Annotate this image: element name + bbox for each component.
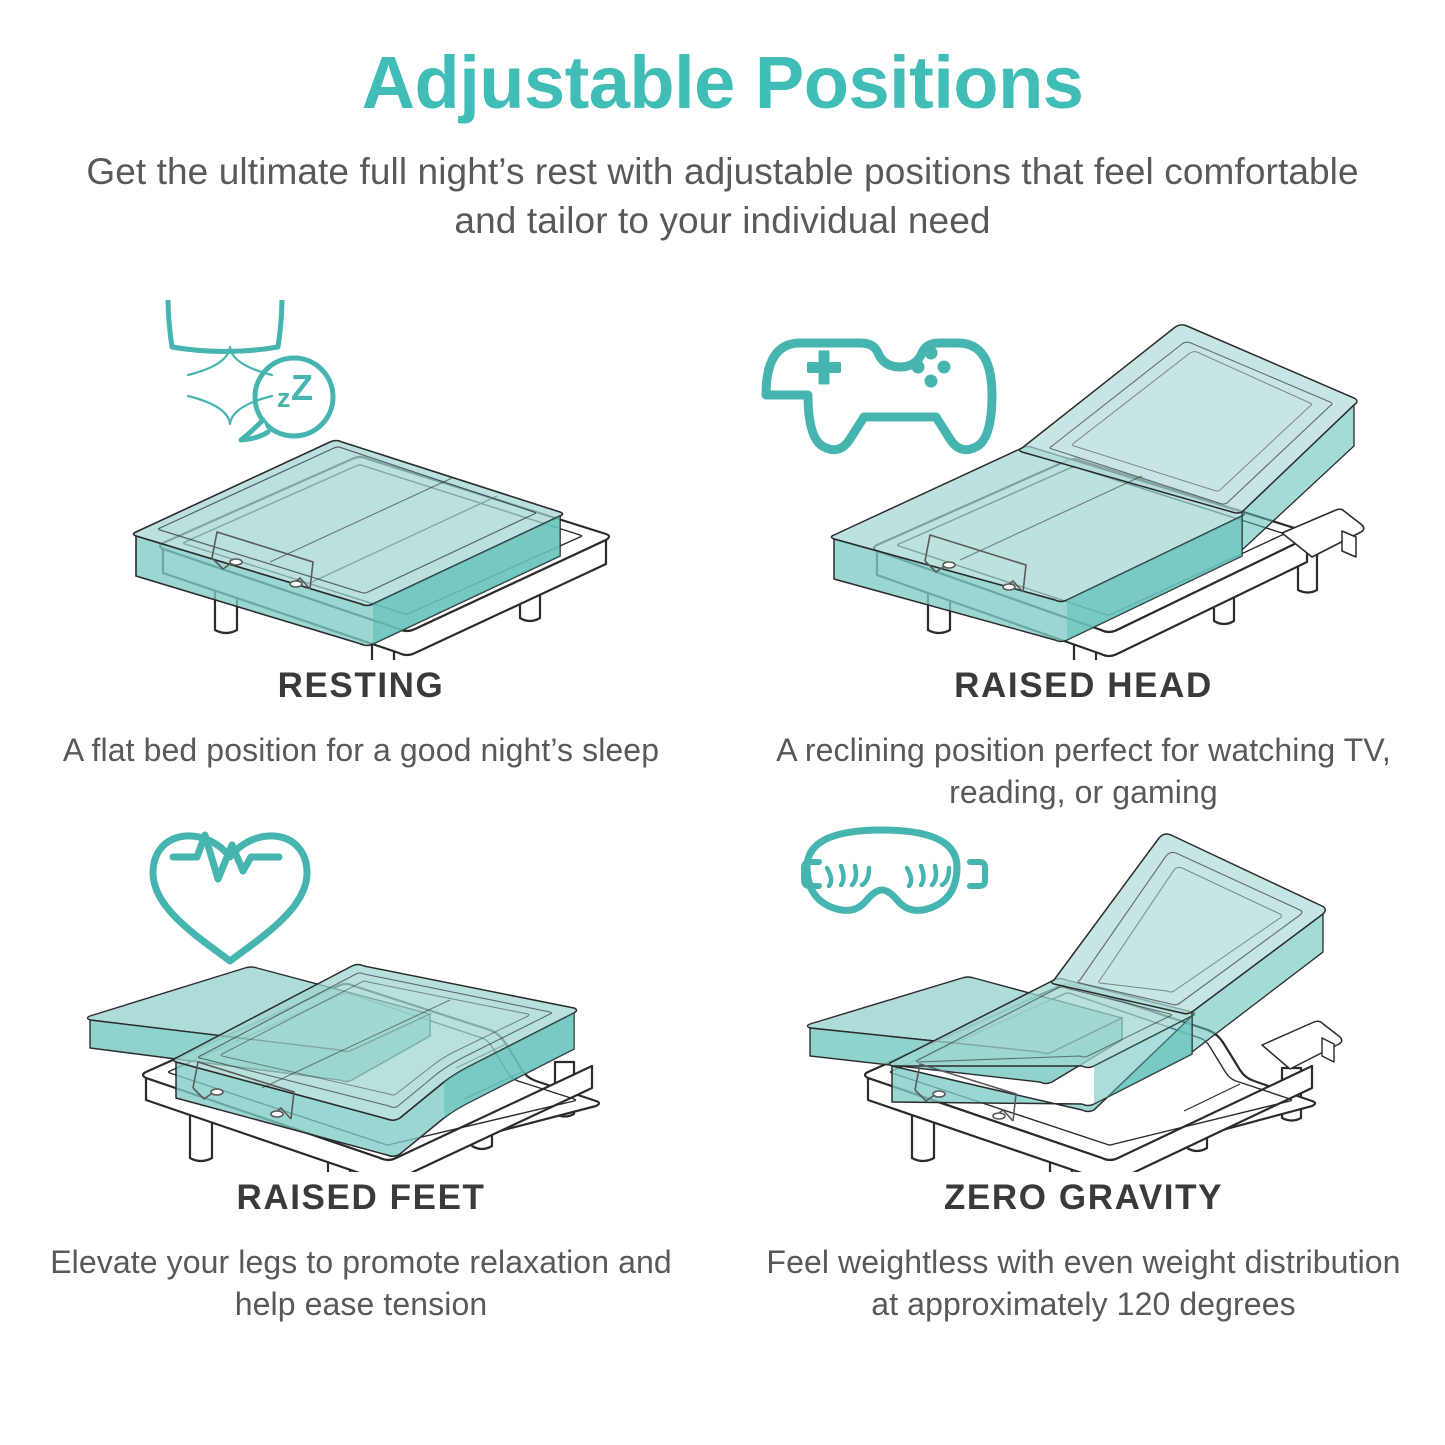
- panel-desc-raised-feet: Elevate your legs to promote relaxation …: [0, 1241, 722, 1325]
- page-title: Adjustable Positions: [0, 46, 1445, 120]
- illustration-zero-gravity: [722, 800, 1445, 1172]
- panel-desc-resting: A flat bed position for a good night’s s…: [0, 729, 722, 771]
- panel-raised-head[interactable]: RAISED HEAD A reclining position perfect…: [722, 300, 1445, 800]
- caption-raised-head: RAISED HEAD A reclining position perfect…: [722, 668, 1445, 813]
- heart-pulse-icon: [153, 835, 307, 961]
- caption-raised-feet: RAISED FEET Elevate your legs to promote…: [0, 1180, 722, 1325]
- infographic-page: Adjustable Positions Get the ultimate fu…: [0, 0, 1445, 1445]
- sleep-mask-eyelashes-icon: [827, 866, 949, 886]
- panel-title-raised-feet: RAISED FEET: [0, 1180, 722, 1215]
- header: Adjustable Positions Get the ultimate fu…: [0, 46, 1445, 246]
- caption-resting: RESTING A flat bed position for a good n…: [0, 668, 722, 771]
- page-subtitle: Get the ultimate full night’s rest with …: [0, 148, 1445, 246]
- illustration-raised-head: [722, 300, 1445, 660]
- illustration-resting: z Z: [0, 300, 722, 660]
- panel-desc-zero-gravity: Feel weightless with even weight distrib…: [722, 1241, 1445, 1325]
- zzz-large-label: Z: [291, 367, 313, 408]
- zzz-small-label: z: [277, 383, 291, 413]
- panel-zero-gravity[interactable]: ZERO GRAVITY Feel weightless with even w…: [722, 800, 1445, 1300]
- gamepad-dpad-icon: [807, 351, 841, 385]
- illustration-raised-feet: [0, 800, 722, 1172]
- positions-grid: z Z: [0, 300, 1445, 1300]
- panel-resting[interactable]: z Z: [0, 300, 722, 800]
- panel-raised-feet[interactable]: RAISED FEET Elevate your legs to promote…: [0, 800, 722, 1300]
- caption-zero-gravity: ZERO GRAVITY Feel weightless with even w…: [722, 1180, 1445, 1325]
- panel-title-raised-head: RAISED HEAD: [722, 668, 1445, 703]
- panel-title-resting: RESTING: [0, 668, 722, 703]
- panel-title-zero-gravity: ZERO GRAVITY: [722, 1180, 1445, 1215]
- gamepad-icon: [766, 343, 992, 450]
- sleep-mask-icon: [804, 830, 985, 910]
- mattress-head-up: [832, 325, 1358, 642]
